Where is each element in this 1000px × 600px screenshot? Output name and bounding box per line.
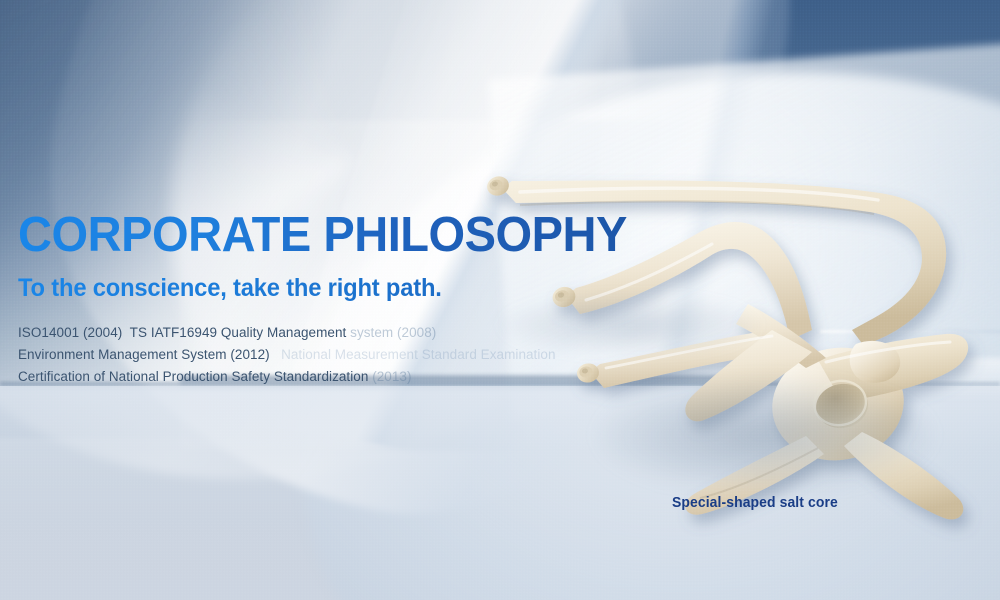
certification-line-2-faded: National Measurement Standard Examinatio… bbox=[270, 347, 556, 362]
certification-line-1-text: ISO14001 (2004) TS IATF16949 Quality Man… bbox=[18, 325, 346, 340]
certification-line-1-faded: system (2008) bbox=[346, 325, 436, 340]
certifications-list: ISO14001 (2004) TS IATF16949 Quality Man… bbox=[18, 322, 658, 388]
background-foreground-surface bbox=[0, 386, 1000, 600]
page-subtitle: To the conscience, take the right path. bbox=[18, 272, 626, 304]
certification-line-2-text: Environment Management System (2012) bbox=[18, 347, 270, 362]
certification-line-3-faded: (2013) bbox=[368, 369, 411, 384]
certification-line-2: Environment Management System (2012) Nat… bbox=[18, 344, 658, 366]
certification-line-1: ISO14001 (2004) TS IATF16949 Quality Man… bbox=[18, 322, 658, 344]
page-title: CORPORATE PHILOSOPHY bbox=[18, 206, 632, 264]
background-ledge-highlight bbox=[820, 330, 1000, 333]
product-caption: Special-shaped salt core bbox=[672, 494, 838, 511]
certification-line-3: Certification of National Production Saf… bbox=[18, 366, 658, 388]
corporate-philosophy-banner: CORPORATE PHILOSOPHY To the conscience, … bbox=[0, 0, 1000, 600]
headline-text-block: CORPORATE PHILOSOPHY To the conscience, … bbox=[18, 206, 658, 388]
certification-line-3-text: Certification of National Production Saf… bbox=[18, 369, 368, 384]
background-ledge-face bbox=[860, 358, 1000, 400]
